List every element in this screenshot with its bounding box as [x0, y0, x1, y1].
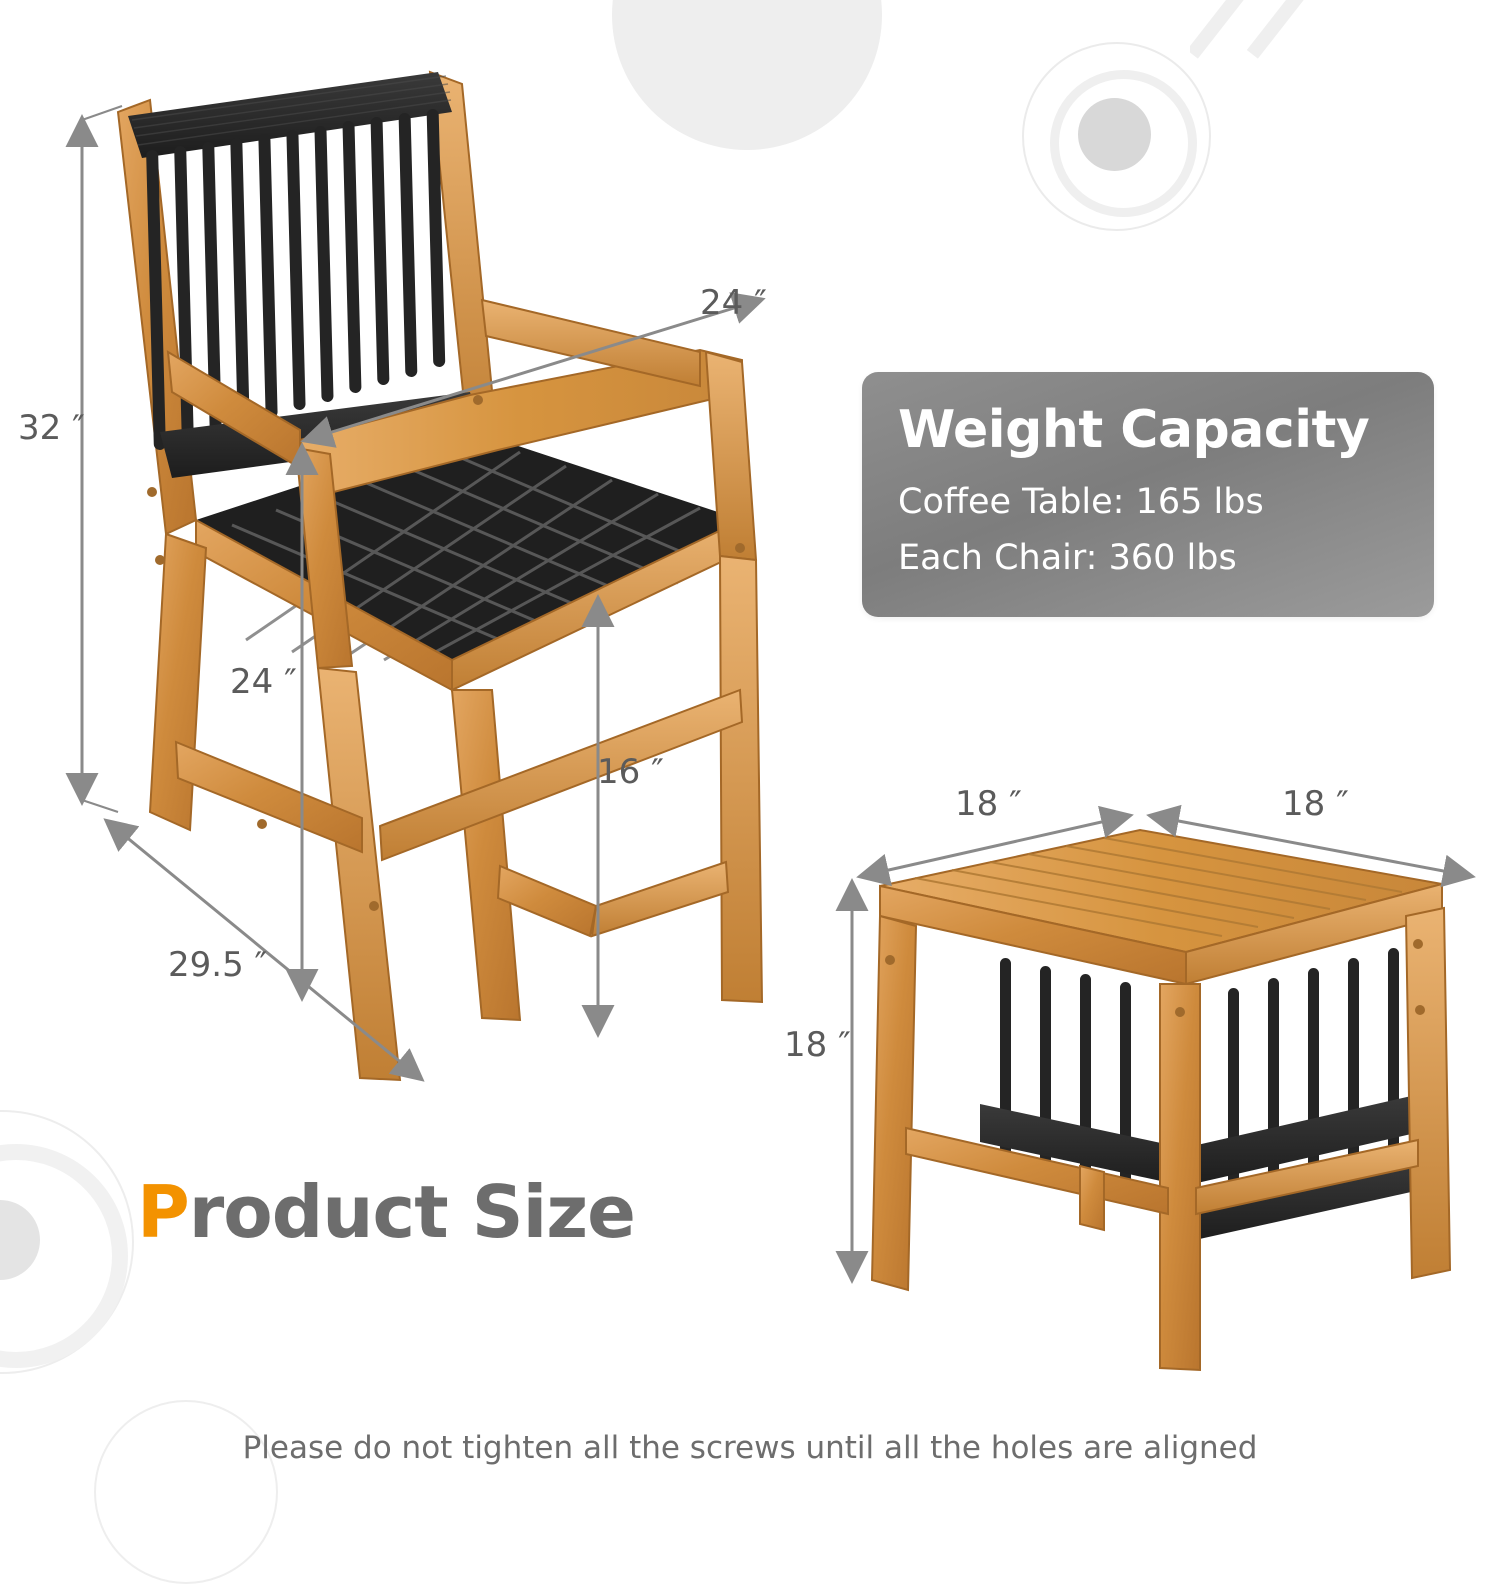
product-size-infographic: 32 ″ 24 ″ 24 ″ 16 ″ 29.5 ″ 18 ″ 18 ″ 18 … — [0, 0, 1500, 1500]
chair-seat-height-label: 16 ″ — [597, 752, 664, 792]
weight-capacity-coffee-table: Coffee Table: 165 lbs — [898, 482, 1264, 522]
chair-seat-back-height-label: 24 ″ — [230, 662, 297, 702]
chair-depth-label: 24 ″ — [700, 283, 767, 323]
dimension-arrows — [0, 0, 1500, 1500]
weight-capacity-title: Weight Capacity — [898, 400, 1369, 460]
page-title: Product Size — [137, 1170, 635, 1254]
page-title-initial: P — [137, 1170, 189, 1254]
chair-height-label: 32 ″ — [18, 408, 85, 448]
chair-width-label: 29.5 ″ — [168, 945, 267, 985]
weight-capacity-card: Weight Capacity Coffee Table: 165 lbs Ea… — [862, 372, 1434, 617]
weight-capacity-each-chair: Each Chair: 360 lbs — [898, 538, 1237, 578]
footer-note: Please do not tighten all the screws unt… — [0, 1430, 1500, 1466]
table-height-label: 18 ″ — [784, 1025, 851, 1065]
page-title-rest: roduct Size — [189, 1170, 635, 1254]
table-top-right-label: 18 ″ — [1282, 784, 1349, 824]
table-top-left-label: 18 ″ — [955, 784, 1022, 824]
